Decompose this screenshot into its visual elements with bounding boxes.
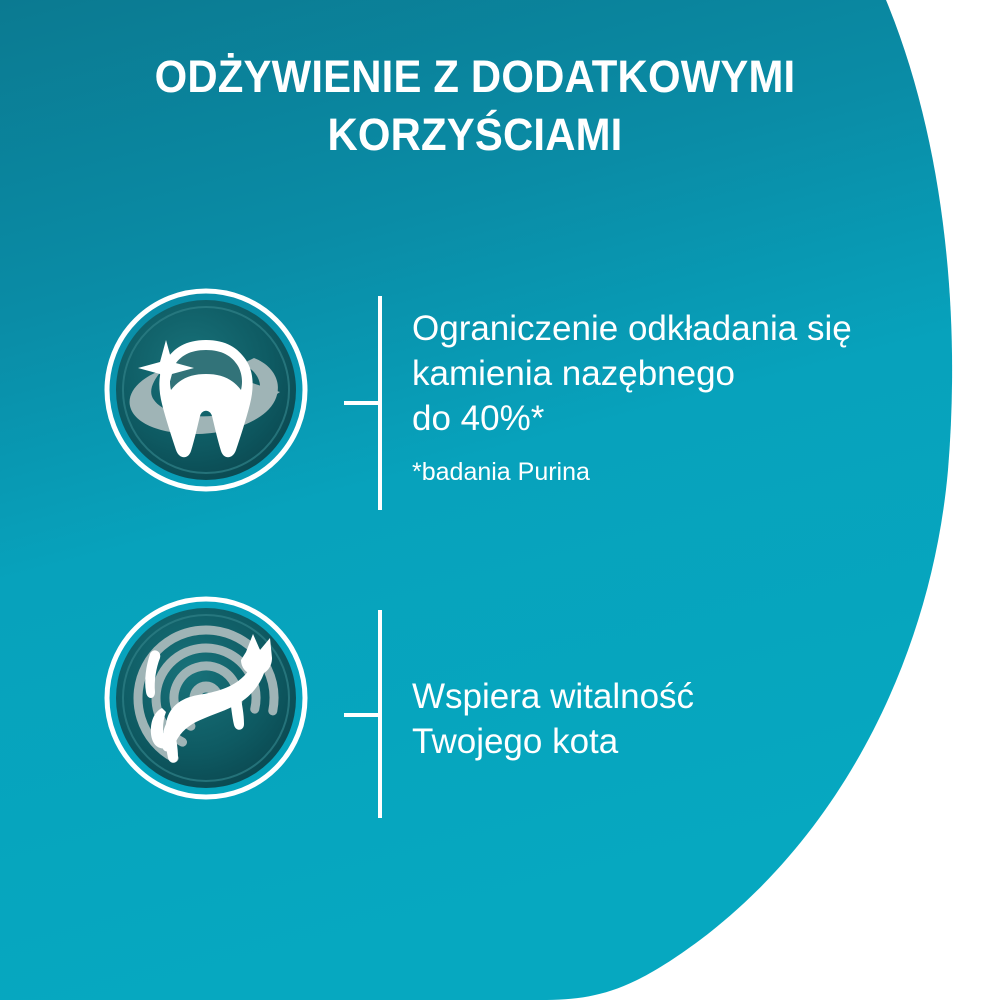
benefit-line: Twojego kota <box>412 719 694 764</box>
cat-vitality-icon <box>104 596 308 800</box>
benefit-footnote: *badania Purina <box>412 455 852 489</box>
benefit-copy: Ograniczenie odkładania się kamienia naz… <box>412 306 852 489</box>
benefit-line: kamienia nazębnego <box>412 351 852 396</box>
benefit-line: Ograniczenie odkładania się <box>412 306 852 351</box>
connector-tick <box>344 401 382 405</box>
connector-line <box>344 596 384 826</box>
tooth-sparkle-icon <box>104 288 308 492</box>
connector-line <box>344 288 384 518</box>
connector-tick <box>344 713 382 717</box>
promo-banner: ODŻYWIENIE Z DODATKOWYMI KORZYŚCIAMI <box>0 0 1000 1000</box>
benefit-line: Wspiera witalność <box>412 674 694 719</box>
benefit-copy: Wspiera witalność Twojego kota <box>412 674 694 764</box>
page-title: ODŻYWIENIE Z DODATKOWYMI KORZYŚCIAMI <box>89 48 861 164</box>
benefit-line: do 40%* <box>412 396 852 441</box>
